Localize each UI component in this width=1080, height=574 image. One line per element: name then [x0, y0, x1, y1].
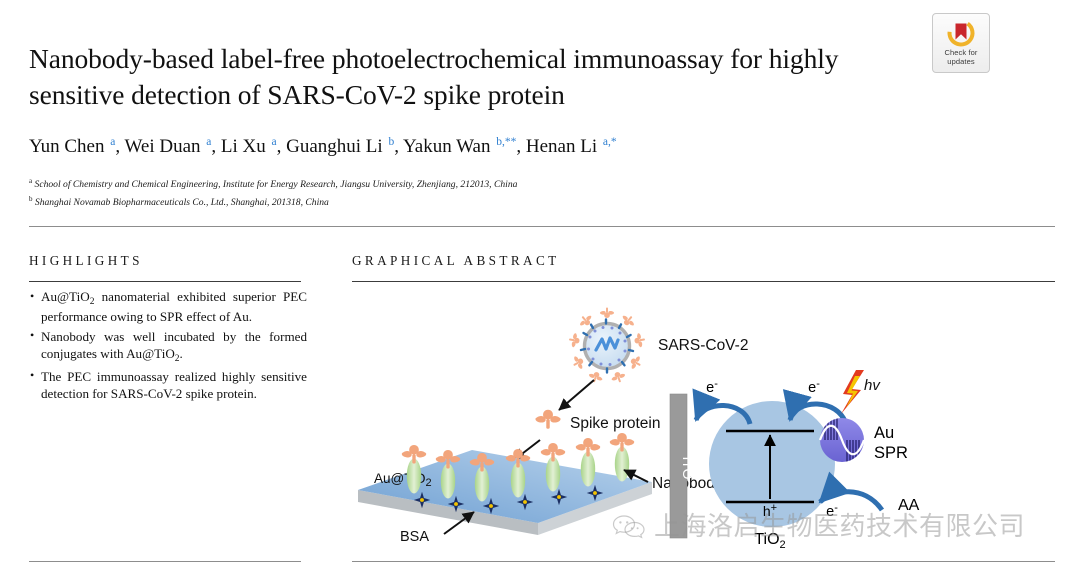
nanobody: [615, 447, 629, 482]
crossmark-line2: updates: [947, 57, 974, 66]
highlights-heading-divider: [29, 281, 301, 282]
affiliation-b: b Shanghai Novamab Biopharmaceuticals Co…: [29, 192, 889, 210]
graphical-abstract-bottom-divider: [352, 561, 1055, 562]
slab-top: [358, 450, 652, 523]
figure-canvas: SARS-CoV-2 Spike protein Au@TiO2: [352, 288, 1055, 556]
graphical-abstract-figure: SARS-CoV-2 Spike protein Au@TiO2: [352, 288, 1055, 556]
article-title: Nanobody-based label-free photoelectroch…: [29, 41, 909, 113]
label-semiconductor: TiO2: [754, 531, 785, 551]
label-spike-protein: Spike protein: [570, 415, 660, 432]
light-bolt-icon: [841, 370, 864, 414]
affiliation-list: a School of Chemistry and Chemical Engin…: [29, 174, 889, 210]
crossmark-label: Check for updates: [945, 49, 978, 66]
crossmark-icon: [946, 18, 976, 48]
nanobody: [546, 457, 560, 492]
label-electron-2: e-: [808, 378, 820, 396]
nanobody: [441, 464, 455, 499]
label-electron-1: e-: [706, 378, 718, 396]
highlights-bottom-divider: [29, 561, 301, 562]
label-virus: SARS-CoV-2: [658, 337, 748, 354]
electrode-slab: [358, 450, 652, 535]
highlights-heading-text: HIGHLIGHTS: [29, 253, 143, 268]
label-bsa: BSA: [400, 529, 429, 545]
label-light: hv: [864, 377, 881, 394]
ito-electrode: ITO: [670, 394, 696, 538]
label-analyte: AA: [898, 497, 920, 514]
graphical-abstract-heading-text: GRAPHICAL ABSTRACT: [352, 253, 560, 268]
affiliation-text-b: Shanghai Novamab Biopharmaceuticals Co.,…: [35, 197, 329, 208]
list-item: Nanobody was well incubated by the forme…: [29, 328, 307, 366]
authors-inline: Yun Chen a, Wei Duan a, Li Xu a, Guanghu…: [29, 136, 617, 157]
nanobody: [511, 463, 525, 498]
header-divider: [29, 226, 1055, 227]
arrow-virus-to-spike: [559, 380, 594, 410]
affiliation-a: a School of Chemistry and Chemical Engin…: [29, 174, 889, 192]
graphical-abstract-page: Check for updates Nanobody-based label-f…: [0, 0, 1080, 574]
nanobody: [475, 467, 489, 502]
au-nanoparticle: [820, 418, 864, 462]
graphical-abstract-heading-divider: [352, 281, 1055, 282]
nanobody: [407, 459, 421, 494]
nanobody: [581, 452, 595, 487]
affiliation-marker-a: a: [29, 177, 32, 185]
affiliation-marker-b: b: [29, 195, 33, 203]
author-list: Yun Chen a, Wei Duan a, Li Xu a, Guanghu…: [29, 130, 889, 159]
label-au: Au: [874, 424, 894, 442]
affiliation-text-a: School of Chemistry and Chemical Enginee…: [35, 179, 518, 190]
virus-particle: [568, 308, 646, 385]
label-ito: ITO: [680, 456, 696, 479]
highlights-heading: HIGHLIGHTS: [29, 253, 143, 269]
list-item: Au@TiO2 nanomaterial exhibited superior …: [29, 288, 307, 326]
crossmark-badge[interactable]: Check for updates: [932, 13, 990, 73]
graphical-abstract-heading: GRAPHICAL ABSTRACT: [352, 253, 560, 269]
label-spr: SPR: [874, 444, 908, 462]
highlights-list: Au@TiO2 nanomaterial exhibited superior …: [29, 288, 307, 404]
free-spike-protein: [535, 410, 560, 429]
list-item: The PEC immunoassay realized highly sens…: [29, 368, 307, 403]
label-electron-3: e-: [826, 502, 838, 520]
